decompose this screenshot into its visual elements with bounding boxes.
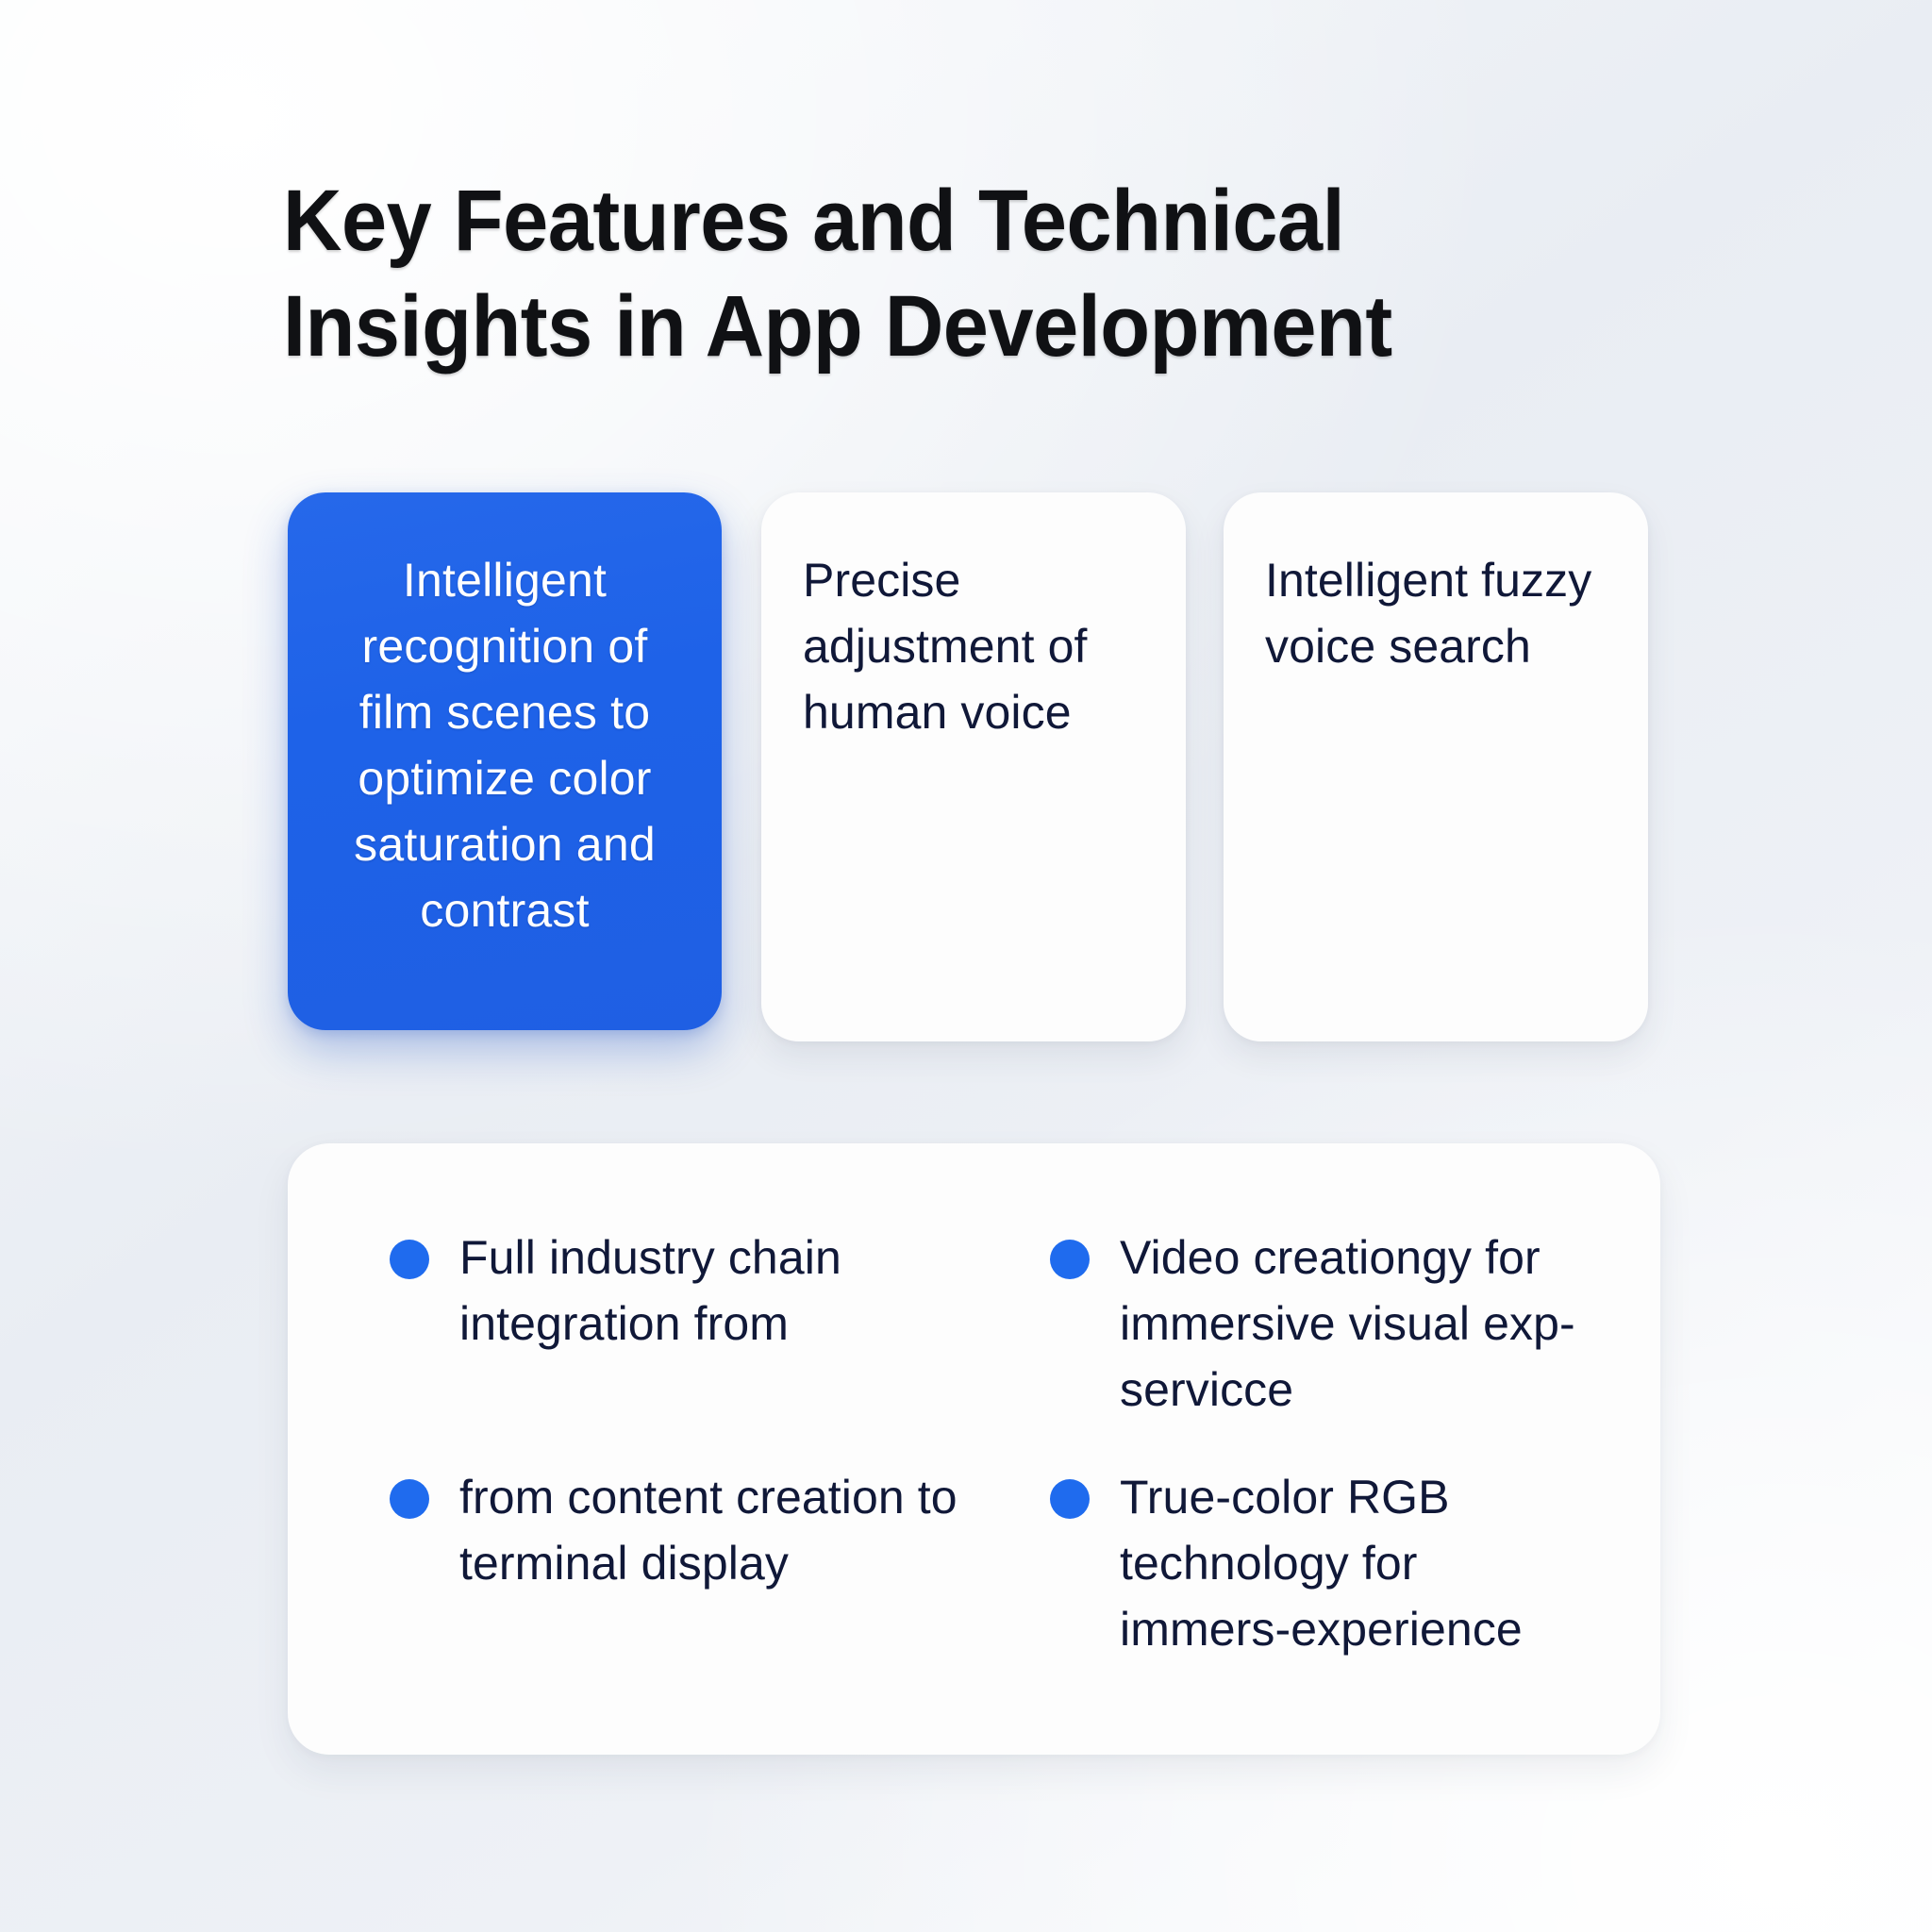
feature-card-fuzzy-voice-search-text: Intelligent fuzzy voice search xyxy=(1265,547,1607,679)
feature-card-fuzzy-voice-search[interactable]: Intelligent fuzzy voice search xyxy=(1224,492,1648,1041)
feature-card-voice-adjustment[interactable]: Precise adjustment of human voice xyxy=(761,492,1186,1041)
bullet-dot-icon xyxy=(1050,1240,1090,1279)
page-title-line-1: Key Features and Technical xyxy=(283,168,1577,274)
list-item-label: True-color RGB technology for immers-exp… xyxy=(1120,1464,1594,1662)
list-item[interactable]: Video creationgy for immersive visual ex… xyxy=(1050,1224,1594,1423)
feature-card-highlight-text: Intelligent recognition of film scenes t… xyxy=(349,547,660,943)
feature-card-highlight[interactable]: Intelligent recognition of film scenes t… xyxy=(288,492,722,1030)
infographic-slide: Key Features and Technical Insights in A… xyxy=(0,0,1932,1932)
list-item[interactable]: from content creation to terminal displa… xyxy=(390,1464,1041,1662)
page-title-line-2: Insights in App Development xyxy=(283,274,1577,379)
list-item-label: from content creation to terminal displa… xyxy=(459,1464,988,1596)
list-item-label: Full industry chain integration from xyxy=(459,1224,988,1357)
list-item-label: Video creationgy for immersive visual ex… xyxy=(1120,1224,1594,1423)
bullet-panel: Full industry chain integration from Vid… xyxy=(288,1143,1660,1755)
feature-card-voice-adjustment-text: Precise adjustment of human voice xyxy=(803,547,1144,745)
bullet-dot-icon xyxy=(390,1479,429,1519)
list-item[interactable]: True-color RGB technology for immers-exp… xyxy=(1050,1464,1594,1662)
bullet-dot-icon xyxy=(390,1240,429,1279)
bullet-dot-icon xyxy=(1050,1479,1090,1519)
list-item[interactable]: Full industry chain integration from xyxy=(390,1224,1041,1423)
page-title: Key Features and Technical Insights in A… xyxy=(283,168,1660,379)
feature-cards-row: Intelligent recognition of film scenes t… xyxy=(288,492,1660,1049)
bullet-grid: Full industry chain integration from Vid… xyxy=(390,1224,1594,1662)
